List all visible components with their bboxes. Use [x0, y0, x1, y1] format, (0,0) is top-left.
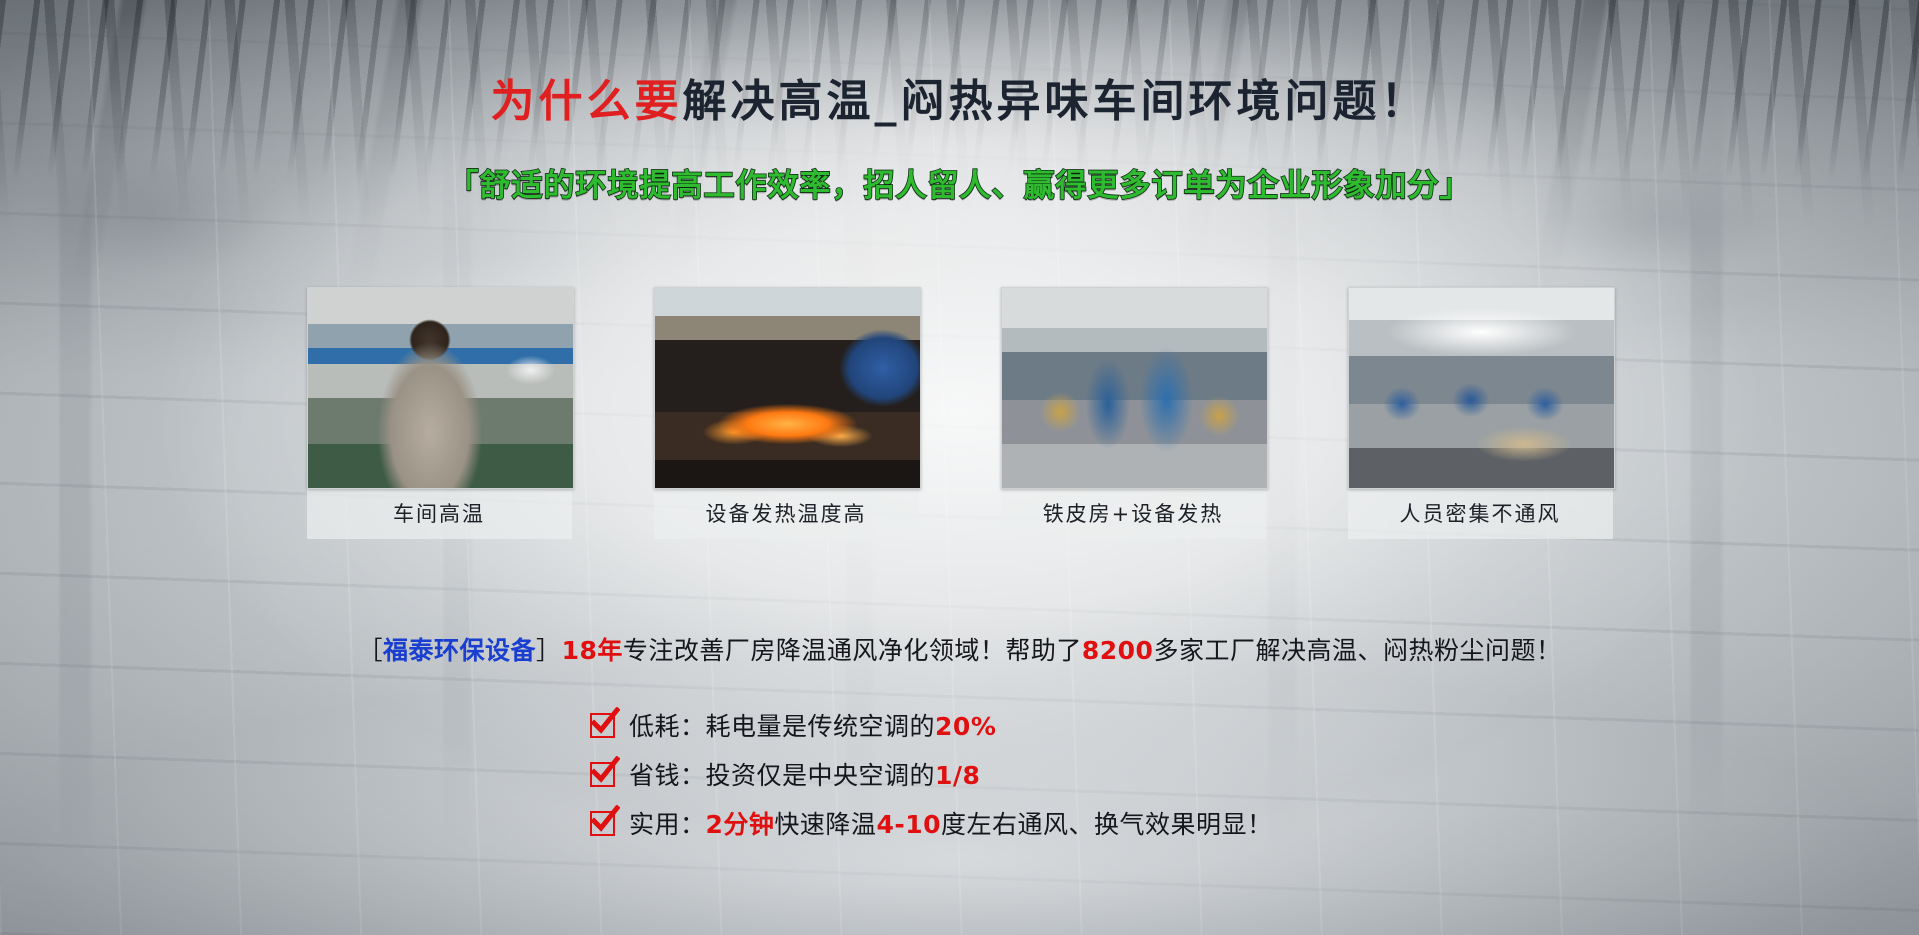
- textile-workshop-worker-photo: [308, 288, 573, 488]
- benefit-body-tail: 度左右通风、换气效果明显！: [941, 810, 1273, 839]
- benefit-body: 耗电量是传统空调的: [706, 712, 936, 741]
- company-brand-name: 福泰环保设备: [383, 636, 536, 665]
- problem-card: 铁皮房+设备发热: [1001, 287, 1266, 539]
- benefit-item: 实用：2分钟快速降温4-10度左右通风、换气效果明显！: [590, 805, 1273, 841]
- lead-middle-text: 专注改善厂房降温通风净化领域！帮助了: [623, 636, 1082, 665]
- benefit-highlight: 20%: [935, 712, 996, 741]
- page-subheadline: 「舒适的环境提高工作效率，招人留人、赢得更多订单为企业形象加分」: [0, 160, 1919, 205]
- lead-bracket-close: ］: [536, 636, 562, 665]
- problem-cards-row: 车间高温 设备发热温度高 铁皮房+设备发热 人员密集不通风: [0, 287, 1919, 539]
- problem-card: 车间高温: [307, 287, 572, 539]
- headline-dark-text: 解决高温_闷热异味车间环境问题！: [683, 76, 1429, 127]
- lead-tail-text: 多家工厂解决高温、闷热粉尘问题！: [1153, 636, 1561, 665]
- problem-card: 设备发热温度高: [654, 287, 919, 539]
- card-caption: 人员密集不通风: [1348, 489, 1613, 539]
- lead-years: 18年: [562, 636, 623, 665]
- benefit-text: 实用：2分钟快速降温4-10度左右通风、换气效果明显！: [629, 805, 1273, 841]
- benefit-text: 低耗：耗电量是传统空调的20%: [629, 707, 996, 743]
- steel-shed-equipment-photo: [1002, 288, 1267, 488]
- lead-bracket-open: ［: [358, 636, 384, 665]
- lead-factory-count: 8200: [1082, 636, 1154, 665]
- problem-card: 人员密集不通风: [1348, 287, 1613, 539]
- card-caption: 设备发热温度高: [654, 489, 919, 539]
- card-photo-frame: [307, 287, 574, 489]
- benefits-list: 低耗：耗电量是传统空调的20% 省钱：投资仅是中央空调的1/8 实用：2分钟快速…: [590, 707, 1273, 841]
- card-photo-frame: [654, 287, 921, 489]
- page-headline: 为什么要解决高温_闷热异味车间环境问题！: [0, 78, 1919, 126]
- benefit-item: 省钱：投资仅是中央空调的1/8: [590, 756, 1273, 792]
- benefit-highlight: 1/8: [935, 761, 980, 790]
- checkbox-checked-icon: [590, 713, 615, 738]
- benefit-body: 快速降温: [774, 810, 876, 839]
- benefit-label: 省钱：: [629, 761, 706, 790]
- benefit-text: 省钱：投资仅是中央空调的1/8: [629, 756, 980, 792]
- benefit-highlight: 2分钟: [706, 810, 775, 839]
- card-photo-frame: [1001, 287, 1268, 489]
- benefit-label: 低耗：: [629, 712, 706, 741]
- benefit-item: 低耗：耗电量是传统空调的20%: [590, 707, 1273, 743]
- checkbox-checked-icon: [590, 811, 615, 836]
- hot-forging-machine-photo: [655, 288, 920, 488]
- card-caption: 铁皮房+设备发热: [1001, 489, 1266, 539]
- company-lead-paragraph: ［福泰环保设备］18年专注改善厂房降温通风净化领域！帮助了8200多家工厂解决高…: [0, 631, 1919, 667]
- crowded-assembly-line-photo: [1349, 288, 1614, 488]
- checkbox-checked-icon: [590, 762, 615, 787]
- benefit-label: 实用：: [629, 810, 706, 839]
- card-caption: 车间高温: [307, 489, 572, 539]
- headline-red-text: 为什么要: [491, 76, 683, 127]
- benefit-highlight-secondary: 4-10: [876, 810, 941, 839]
- card-photo-frame: [1348, 287, 1615, 489]
- benefit-body: 投资仅是中央空调的: [706, 761, 936, 790]
